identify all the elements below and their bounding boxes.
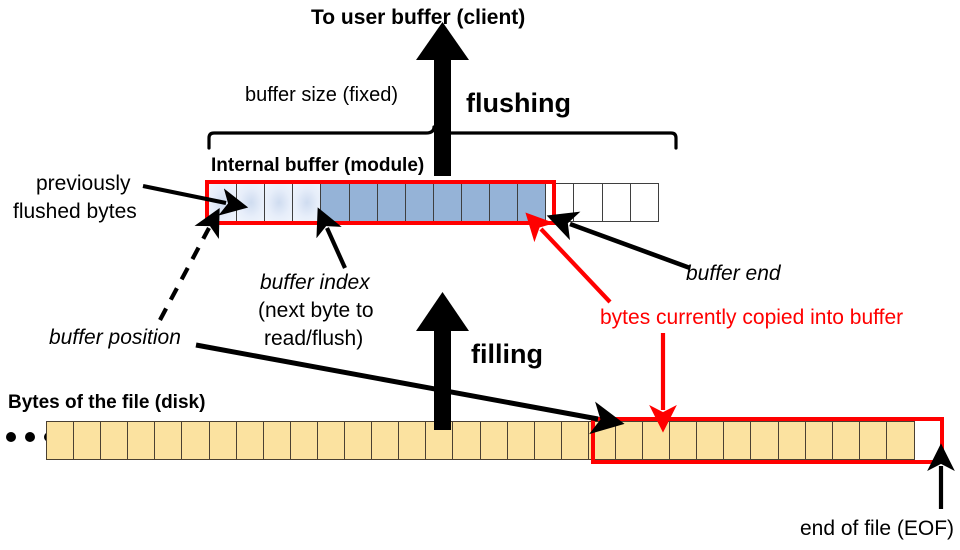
internal-buffer-highlight-box: [205, 180, 556, 225]
file-byte-cell: [236, 421, 265, 460]
file-byte-cell: [263, 421, 292, 460]
internal-buffer-label: Internal buffer (module): [211, 155, 424, 177]
filling-arrow-icon: [416, 292, 469, 430]
previously-flushed-bytes-label-line1: previously: [36, 172, 131, 197]
file-byte-cell: [398, 421, 427, 460]
file-byte-cell: [181, 421, 210, 460]
file-byte-cell: [154, 421, 183, 460]
file-byte-cell: [127, 421, 156, 460]
end-of-file-label: end of file (EOF): [800, 517, 954, 542]
file-byte-cell: [507, 421, 536, 460]
bytes-copied-label: bytes currently copied into buffer: [600, 306, 903, 331]
file-byte-cell: [317, 421, 346, 460]
file-bytes-highlight-box: [591, 417, 944, 464]
file-byte-cell: [344, 421, 373, 460]
buffer-position-dashed-arrow: [160, 228, 209, 320]
buffer-size-bracket: [209, 127, 676, 148]
buffer-index-note-line2: read/flush): [264, 327, 363, 352]
buffer-cell-empty: [630, 183, 660, 222]
file-byte-cell: [46, 421, 75, 460]
buffer-cell-empty: [602, 183, 632, 222]
buffer-position-label: buffer position: [49, 326, 181, 351]
file-byte-cell: [371, 421, 400, 460]
buffer-index-label: buffer index: [260, 271, 370, 296]
file-byte-cell: [209, 421, 238, 460]
to-user-buffer-title: To user buffer (client): [311, 6, 525, 31]
file-byte-cell: [480, 421, 509, 460]
file-byte-cell: [290, 421, 319, 460]
diagram-connectors: [0, 0, 960, 550]
file-byte-cell: [100, 421, 129, 460]
previously-flushed-bytes-label-line2: flushed bytes: [13, 200, 137, 225]
buffered-io-diagram: To user buffer (client) buffer size (fix…: [0, 0, 960, 550]
buffer-size-label: buffer size (fixed): [245, 84, 398, 108]
file-byte-cell: [452, 421, 481, 460]
flushing-label: flushing: [466, 88, 571, 120]
buffer-end-arrow: [570, 224, 690, 268]
flushing-arrow-icon: [416, 22, 469, 176]
file-byte-cell: [534, 421, 563, 460]
bytes-of-file-label: Bytes of the file (disk): [8, 392, 205, 414]
buffer-cell-empty: [573, 183, 603, 222]
filling-label: filling: [471, 339, 543, 371]
buffer-index-note-line1: (next byte to: [258, 299, 374, 324]
buffer-end-label: buffer end: [686, 262, 781, 287]
buffer-index-arrow: [327, 228, 345, 268]
file-byte-cell: [561, 421, 590, 460]
file-byte-cell: [73, 421, 102, 460]
file-byte-cell: [425, 421, 454, 460]
bytes-copied-buffer-arrow: [541, 229, 610, 302]
